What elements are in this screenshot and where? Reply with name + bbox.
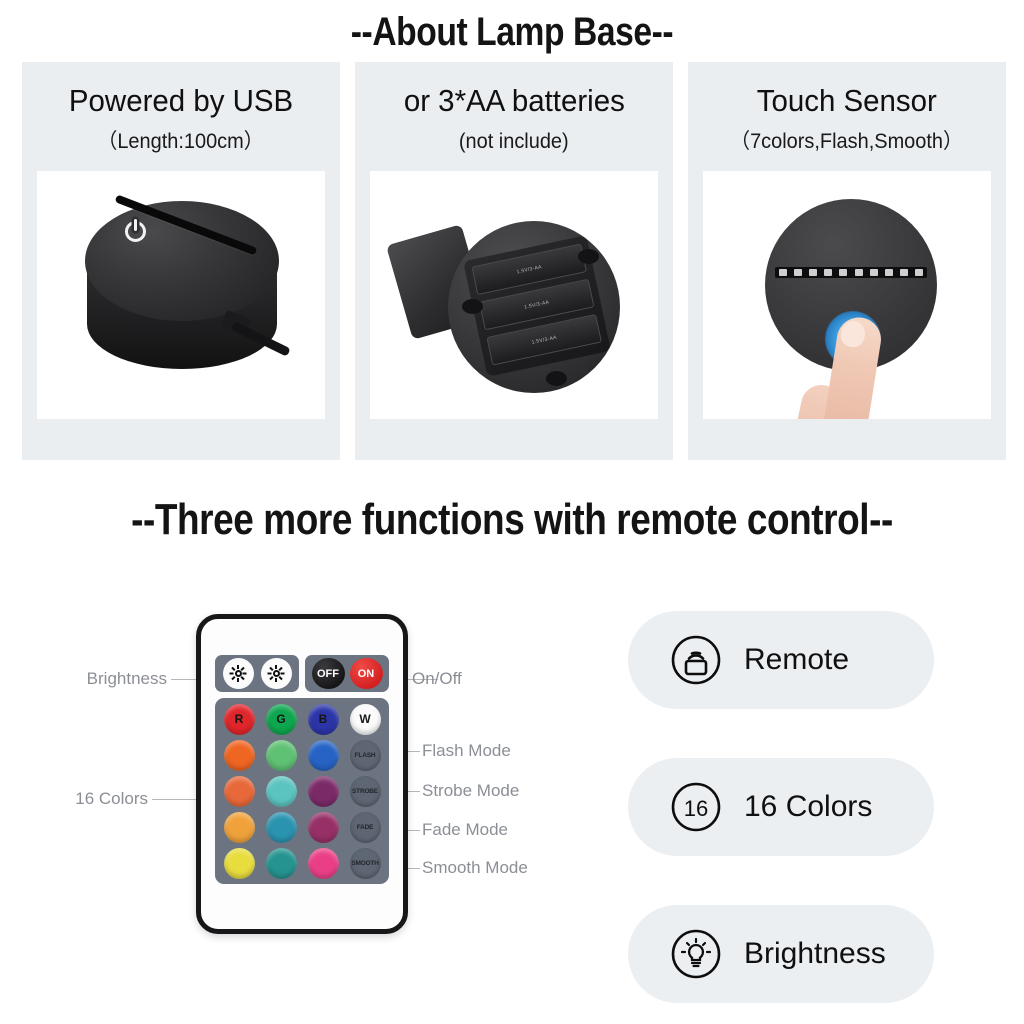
panel-touch-sensor: Touch Sensor （7colors,Flash,Smooth） (688, 62, 1006, 460)
remote-signal-icon (670, 634, 722, 686)
callout-fade-mode: Fade Mode (422, 820, 508, 840)
lamp-base-infographic: --About Lamp Base-- Powered by USB （Leng… (0, 0, 1024, 1024)
brightness-bulb-icon (670, 928, 722, 980)
color-button[interactable] (308, 812, 339, 843)
battery-compartment-photo: 1.5V/3-AA 1.5V/3-AA 1.5V/3-AA (370, 171, 658, 419)
mode-button-fade[interactable]: FADE (350, 812, 381, 843)
color-button-g[interactable]: G (266, 704, 297, 735)
remote-top-button-group: OFF ON (215, 655, 389, 692)
brightness-up-button[interactable] (223, 658, 254, 689)
color-button[interactable] (308, 740, 339, 771)
off-button[interactable]: OFF (312, 658, 345, 689)
svg-text:16: 16 (684, 796, 708, 821)
lamp-base-feature-panels: Powered by USB （Length:100cm） or 3*AA ba… (22, 62, 1006, 460)
touch-sensor-photo (703, 171, 991, 419)
color-button[interactable] (266, 848, 297, 879)
rubber-foot (546, 371, 567, 386)
panel-aa-batteries: or 3*AA batteries (not include) 1.5V/3-A… (355, 62, 673, 460)
color-button[interactable] (308, 848, 339, 879)
panel-subtitle: （7colors,Flash,Smooth） (731, 129, 964, 155)
mode-button-strobe[interactable]: STROBE (350, 776, 381, 807)
color-button[interactable] (224, 776, 255, 807)
callout-strobe-mode: Strobe Mode (422, 781, 519, 801)
remote-color-button-grid: RGBWFLASHSTROBEFADESMOOTH (215, 698, 389, 884)
brightness-button-group (215, 655, 299, 692)
power-button-group: OFF ON (305, 655, 389, 692)
color-button[interactable] (308, 776, 339, 807)
feature-pill-brightness[interactable]: Brightness (628, 905, 934, 1003)
sun-icon (231, 666, 246, 681)
panel-powered-by-usb: Powered by USB （Length:100cm） (22, 62, 340, 460)
feature-pill-label: 16 Colors (744, 790, 872, 824)
panel-subtitle: （Length:100cm） (98, 129, 264, 155)
color-button-r[interactable]: R (224, 704, 255, 735)
on-button[interactable]: ON (350, 658, 383, 689)
rubber-foot (578, 249, 599, 264)
section-title-remote-functions: --Three more functions with remote contr… (82, 496, 942, 544)
brightness-down-button[interactable] (261, 658, 292, 689)
feature-pill-label: Remote (744, 643, 849, 677)
rubber-foot (462, 299, 483, 314)
callout-flash-mode: Flash Mode (422, 741, 511, 761)
feature-pill-remote[interactable]: Remote (628, 611, 934, 709)
panel-title: Touch Sensor (757, 82, 937, 120)
panel-title: or 3*AA batteries (403, 82, 624, 120)
color-button-b[interactable]: B (308, 704, 339, 735)
sixteen-circle-icon: 16 (670, 781, 722, 833)
color-button-w[interactable]: W (350, 704, 381, 735)
callout-16-colors: 16 Colors (0, 789, 148, 809)
page-title-about-lamp-base: --About Lamp Base-- (82, 10, 942, 54)
lamp-base-usb-photo (37, 171, 325, 419)
color-button[interactable] (224, 812, 255, 843)
power-symbol-icon (125, 221, 146, 242)
color-button[interactable] (266, 776, 297, 807)
color-button[interactable] (224, 740, 255, 771)
mode-button-smooth[interactable]: SMOOTH (350, 848, 381, 879)
color-button[interactable] (266, 740, 297, 771)
feature-pill-label: Brightness (744, 937, 886, 971)
callout-on-off: On/Off (412, 669, 462, 689)
color-button[interactable] (224, 848, 255, 879)
mode-button-flash[interactable]: FLASH (350, 740, 381, 771)
sun-icon (269, 666, 284, 681)
color-button[interactable] (266, 812, 297, 843)
remote-control-illustration: OFF ON RGBWFLASHSTROBEFADESMOOTH (196, 614, 408, 934)
callout-brightness: Brightness (17, 669, 167, 689)
panel-subtitle: (not include) (459, 129, 569, 155)
callout-smooth-mode: Smooth Mode (422, 858, 528, 878)
led-strip (775, 267, 927, 278)
panel-title: Powered by USB (69, 82, 293, 120)
feature-pill-16-colors[interactable]: 16 16 Colors (628, 758, 934, 856)
